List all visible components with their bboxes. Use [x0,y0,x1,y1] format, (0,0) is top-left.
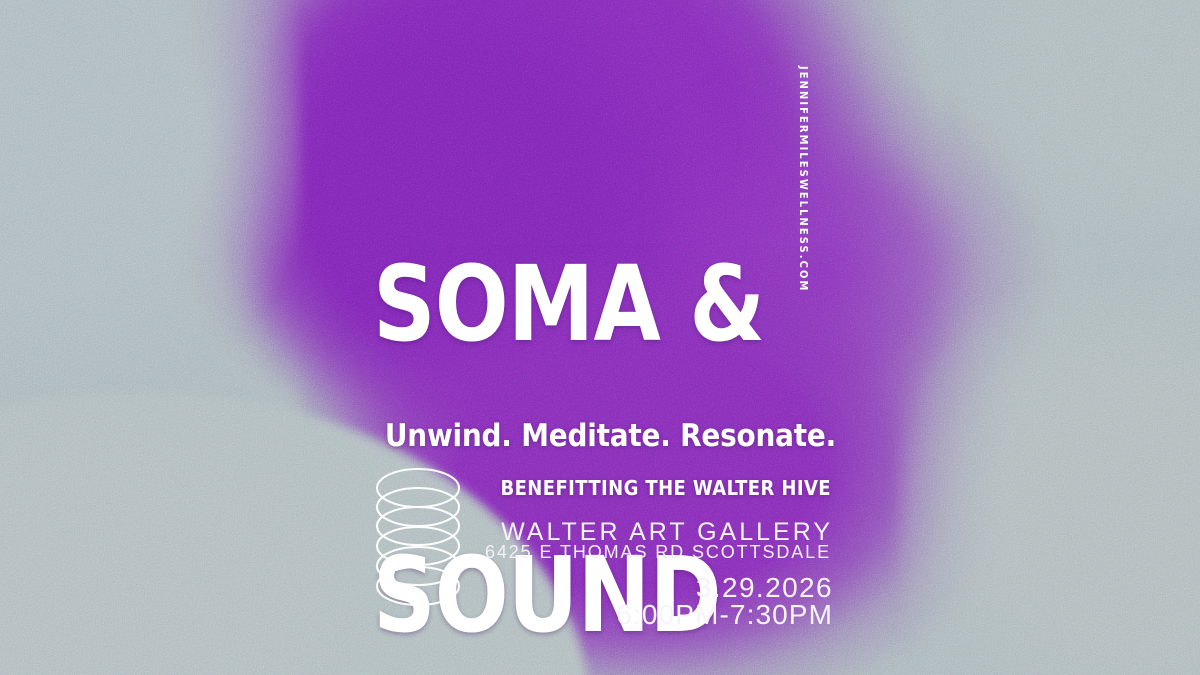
sage-field-left [0,0,300,410]
sage-field-top-right [960,0,1200,230]
poster-tagline: Unwind. Meditate. Resonate. [0,418,836,454]
venue-address: 6425 E THOMAS RD SCOTTSDALE [0,542,831,563]
website-url-vertical[interactable]: JENNIFERMILESWELLNESS.COM [797,66,810,292]
benefitting-line: BENEFITTING THE WALTER HIVE [0,476,831,500]
event-poster: SOMA & SOUND JENNIFERMILESWELLNESS.COM U… [0,0,1200,675]
event-time: 6:00PM-7:30PM [0,599,833,631]
title-line-1: SOMA & [373,256,968,353]
